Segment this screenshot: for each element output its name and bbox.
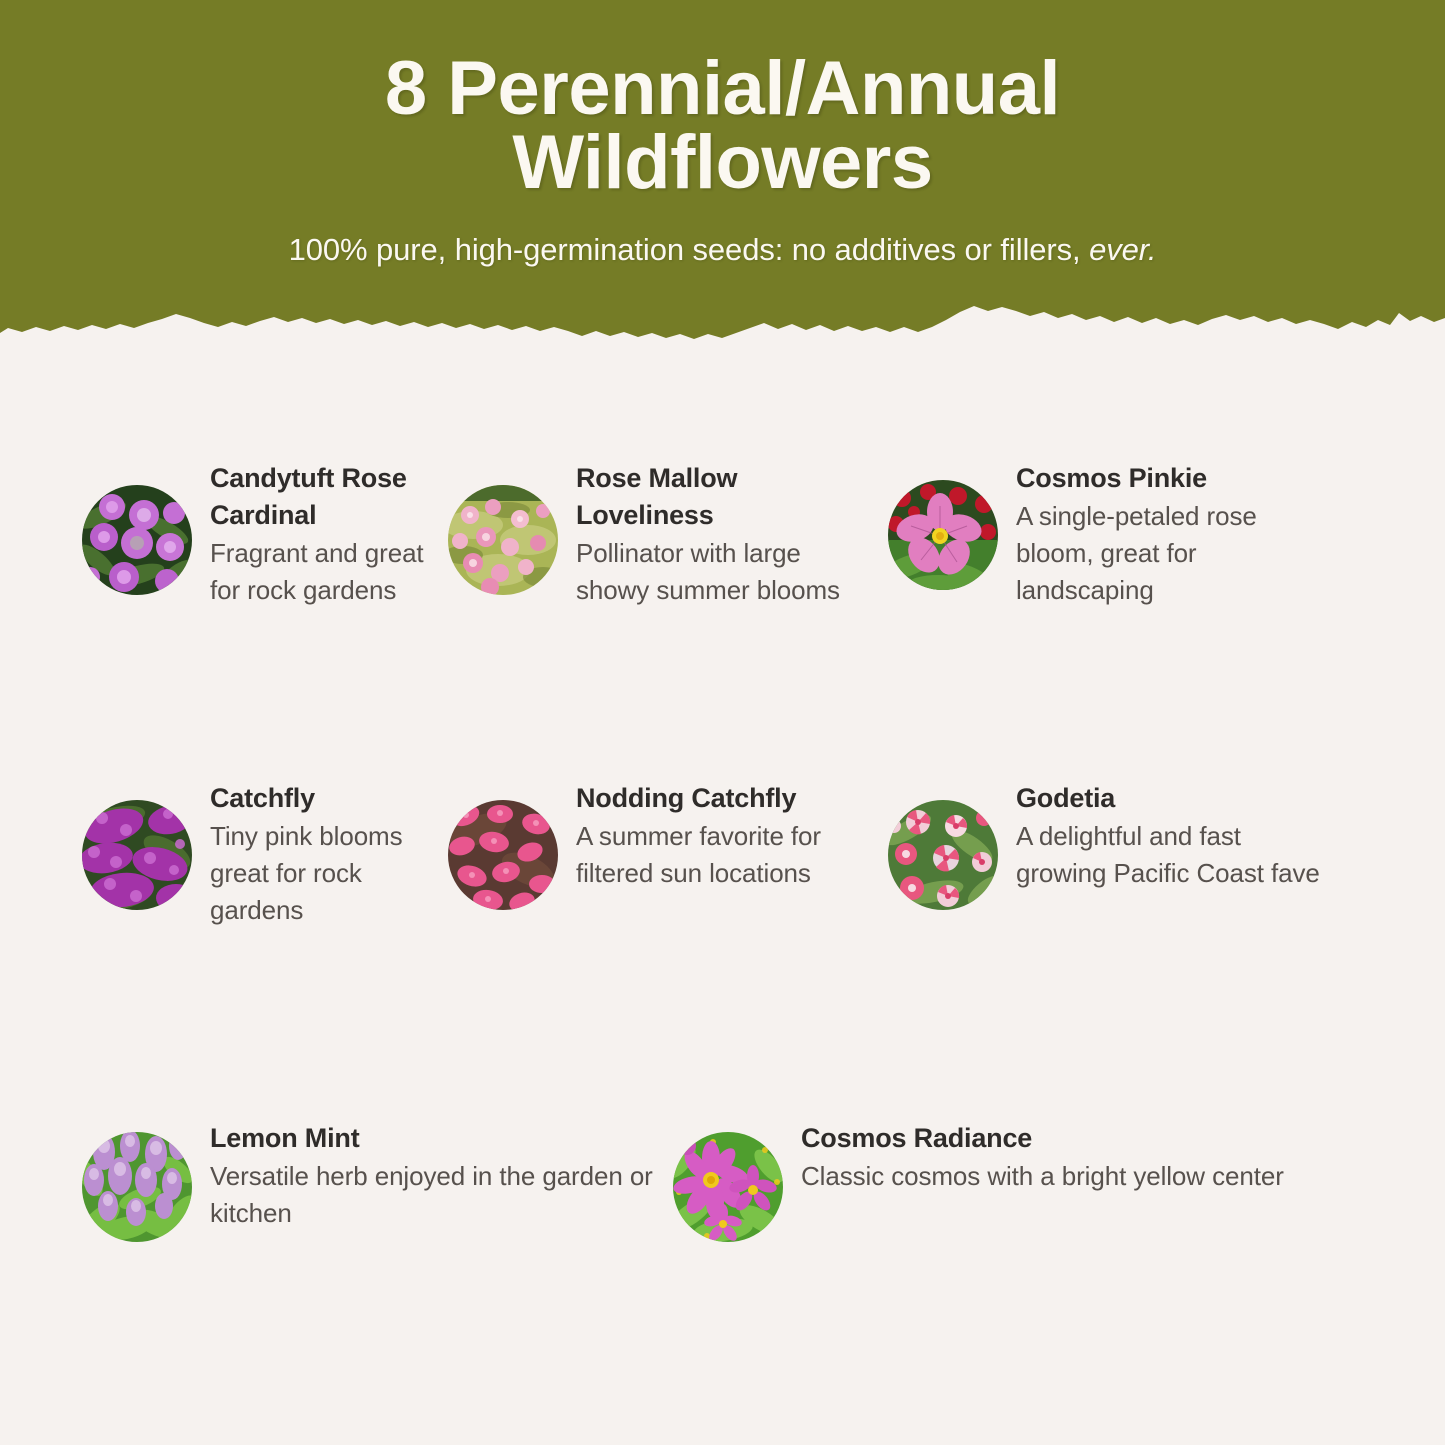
page-subtitle: 100% pure, high-germination seeds: no ad… bbox=[289, 231, 1157, 268]
rose-mallow-loveliness-thumbnail-icon bbox=[448, 485, 558, 595]
flower-item-godetia: Godetia A delightful and fast growing Pa… bbox=[888, 780, 1330, 910]
flower-row-1: Candytuft Rose Cardinal Fragrant and gre… bbox=[0, 460, 1445, 609]
candytuft-rose-cardinal-thumbnail-icon bbox=[82, 485, 192, 595]
flower-row-3: Lemon Mint Versatile herb enjoyed in the… bbox=[0, 1120, 1445, 1242]
flower-description: Versatile herb enjoyed in the garden or … bbox=[210, 1158, 660, 1232]
flower-name: Candytuft Rose Cardinal bbox=[210, 460, 435, 534]
flower-name: Lemon Mint bbox=[210, 1120, 660, 1157]
flower-item-nodding-catchfly: Nodding Catchfly A summer favorite for f… bbox=[448, 780, 870, 910]
flower-name: Cosmos Radiance bbox=[801, 1120, 1284, 1157]
flower-description: A delightful and fast growing Pacific Co… bbox=[1016, 818, 1330, 892]
page-title-line-1: 8 Perennial/Annual bbox=[385, 52, 1060, 126]
page-subtitle-emphasis: ever. bbox=[1089, 232, 1156, 267]
page-title: 8 Perennial/Annual Wildflowers bbox=[385, 52, 1060, 201]
flower-description: A single-petaled rose bloom, great for l… bbox=[1016, 498, 1330, 609]
flower-description: A summer favorite for filtered sun locat… bbox=[576, 818, 870, 892]
flower-description: Fragrant and great for rock gardens bbox=[210, 535, 435, 609]
flower-description: Pollinator with large showy summer bloom… bbox=[576, 535, 870, 609]
header-banner: 8 Perennial/Annual Wildflowers 100% pure… bbox=[0, 0, 1445, 340]
flower-name: Nodding Catchfly bbox=[576, 780, 870, 817]
flower-row-2: Catchfly Tiny pink blooms great for rock… bbox=[0, 780, 1445, 929]
godetia-thumbnail-icon bbox=[888, 800, 998, 910]
page-title-line-2: Wildflowers bbox=[385, 126, 1060, 200]
flower-item-catchfly: Catchfly Tiny pink blooms great for rock… bbox=[82, 780, 435, 929]
flower-name: Cosmos Pinkie bbox=[1016, 460, 1330, 497]
flower-description: Classic cosmos with a bright yellow cent… bbox=[801, 1158, 1284, 1195]
flower-name: Rose Mallow Loveliness bbox=[576, 460, 870, 534]
flower-list: Candytuft Rose Cardinal Fragrant and gre… bbox=[0, 340, 1445, 1445]
flower-item-candytuft-rose-cardinal: Candytuft Rose Cardinal Fragrant and gre… bbox=[82, 460, 435, 609]
cosmos-pinkie-thumbnail-icon bbox=[888, 480, 998, 590]
flower-item-lemon-mint: Lemon Mint Versatile herb enjoyed in the… bbox=[82, 1120, 660, 1242]
flower-name: Godetia bbox=[1016, 780, 1330, 817]
nodding-catchfly-thumbnail-icon bbox=[448, 800, 558, 910]
flower-item-cosmos-pinkie: Cosmos Pinkie A single-petaled rose bloo… bbox=[888, 460, 1330, 609]
flower-item-rose-mallow-loveliness: Rose Mallow Loveliness Pollinator with l… bbox=[448, 460, 870, 609]
page-subtitle-main: 100% pure, high-germination seeds: no ad… bbox=[289, 232, 1089, 267]
flower-description: Tiny pink blooms great for rock gardens bbox=[210, 818, 435, 929]
catchfly-thumbnail-icon bbox=[82, 800, 192, 910]
flower-item-cosmos-radiance: Cosmos Radiance Classic cosmos with a br… bbox=[673, 1120, 1320, 1242]
lemon-mint-thumbnail-icon bbox=[82, 1132, 192, 1242]
cosmos-radiance-thumbnail-icon bbox=[673, 1132, 783, 1242]
flower-name: Catchfly bbox=[210, 780, 435, 817]
